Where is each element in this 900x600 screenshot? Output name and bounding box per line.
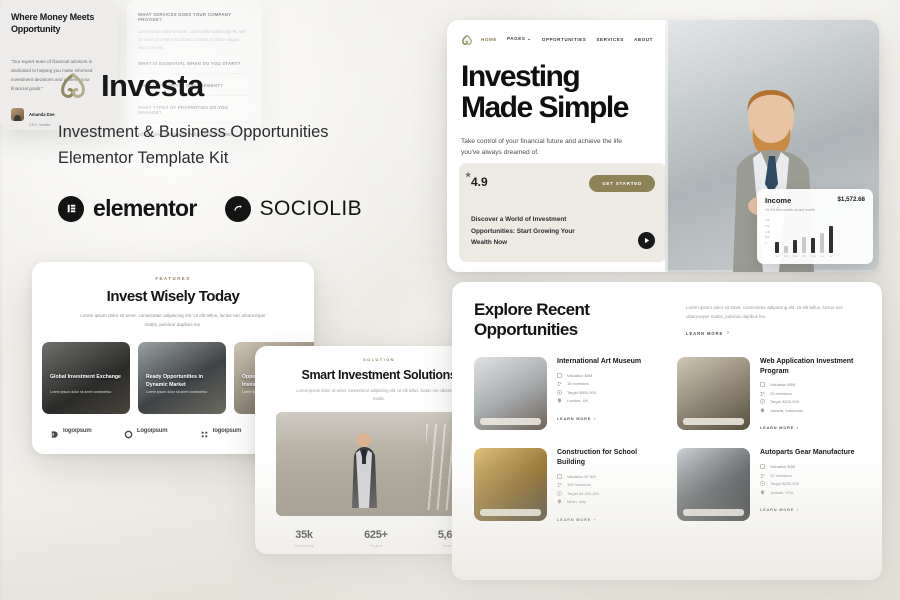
income-chart-y-axis: 2.0k 1.5k 1.0k 500 0 (765, 219, 770, 245)
brand-subtitle-line1: Investment & Business Opportunities (58, 120, 458, 146)
meta-target-text: Target $250,000 (770, 481, 799, 486)
meta-valuation-text: Valuation $5M (770, 382, 795, 387)
opportunity-card-title: Construction for School Building (557, 448, 659, 468)
site-nav: HOME PAGES ⌄ OPPORTUNITIES SERVICES ABOU… (461, 33, 653, 45)
page-title: Investa (101, 68, 204, 104)
hero-rating-card: ★ 4.9 GET STARTED Discover a World of In… (459, 163, 667, 262)
meta-row: Valuation $7.5M (557, 474, 659, 479)
meta-row: Valuation $5M (557, 373, 659, 378)
valuation-icon (760, 464, 765, 469)
opportunity-card-image (474, 448, 547, 521)
meta-target-text: Target $1,500,000 (567, 491, 599, 496)
investa-leaf-logo-icon (461, 33, 473, 45)
meta-row: Target $500,000 (557, 390, 659, 395)
income-widget-value: $1,572.68 (837, 196, 865, 203)
opportunity-card[interactable]: Web Application Investment ProgramValuat… (677, 357, 862, 435)
badge-sociolib-label: SOCIOLIB (260, 197, 362, 221)
client-logo-label: logoipsum (63, 428, 92, 434)
feature-card[interactable]: Ready Opportunities in Dynamic Market Lo… (138, 342, 226, 414)
chevron-right-icon: › (797, 425, 799, 430)
faq-lead-answer: Lorem ipsum dolor sit amet, consectetur … (138, 28, 251, 52)
brand-subtitle-line2: Elementor Template Kit (58, 146, 458, 172)
meta-row: Milan, Italy (557, 499, 659, 504)
income-x-label: Jan (775, 255, 779, 258)
stat-label: Community (294, 544, 314, 548)
y-tick: 1.0k (765, 231, 770, 234)
smart-paragraph: Lorem ipsum dolor sit amet, consectetur … (291, 387, 467, 403)
income-bar (820, 233, 824, 253)
income-bar-chart: 2.0k 1.5k 1.0k 500 0 (765, 219, 865, 253)
opportunities-heading-line1: Explore Recent (474, 300, 589, 320)
opportunity-card-grid: International Art MuseumValuation $5M15 … (474, 357, 862, 526)
faq-item-label: WHAT IS ESSENTIAL WHEN DO YOU START? (138, 61, 241, 66)
nav-item-home[interactable]: HOME (481, 37, 497, 42)
meta-location-text: Jakarta, Indonesia (770, 408, 803, 413)
smart-person-photo (338, 430, 390, 508)
meta-row: 32 Investors (760, 473, 862, 478)
hero-headline-line2: Made Simple (461, 93, 653, 124)
opportunity-learn-more-label: LEARN MORE (557, 517, 591, 522)
income-x-label: Jun (820, 255, 824, 258)
location-icon (760, 490, 765, 495)
elementor-logo-icon (58, 196, 84, 222)
target-icon (760, 399, 765, 404)
brand-title-row: Investa (58, 68, 458, 104)
feature-card[interactable]: Global Investment Exchange Lorem ipsum d… (42, 342, 130, 414)
income-bar (802, 237, 806, 253)
opportunities-heading-line2: Opportunities (474, 320, 589, 340)
opportunity-card[interactable]: International Art MuseumValuation $5M15 … (474, 357, 659, 435)
hero-image: Income +5.3% this month vs last month $1… (665, 20, 879, 272)
faq-item[interactable]: WHAT IS ESSENTIAL WHEN DO YOU START? (138, 52, 251, 66)
opportunities-panel: Explore Recent Opportunities Lorem ipsum… (452, 282, 882, 580)
opportunity-card[interactable]: Construction for School BuildingValuatio… (474, 448, 659, 526)
client-logo: logoipsum (200, 426, 242, 435)
opportunity-learn-more-label: LEARN MORE (557, 416, 591, 421)
image-caption-tag (480, 418, 541, 425)
meta-row: Valuation $4M (760, 464, 862, 469)
opportunity-card-body: Web Application Investment ProgramValuat… (760, 357, 862, 435)
investors-icon (760, 391, 765, 396)
opportunity-card-title: Web Application Investment Program (760, 357, 862, 377)
author-name: Amanda Doe (29, 112, 55, 117)
opportunity-card-image (677, 448, 750, 521)
stat-item: 625+ Project (364, 529, 388, 548)
learn-more-label: LEARN MORE (686, 331, 723, 336)
valuation-icon (557, 373, 562, 378)
meta-row: London, UK (557, 398, 659, 403)
logoipsum-circle-icon (124, 426, 133, 435)
income-widget: Income +5.3% this month vs last month $1… (757, 189, 873, 264)
badge-sociolib: SOCIOLIB (225, 196, 362, 222)
logoipsum-dots-icon (200, 426, 209, 435)
money-heading: Where Money Meets Opportunity (11, 12, 107, 36)
meta-row: 25 Investors (760, 391, 862, 396)
meta-row: 150 Investors (557, 482, 659, 487)
opportunity-learn-more-label: LEARN MORE (760, 507, 794, 512)
meta-row: 15 Investors (557, 381, 659, 386)
get-started-button[interactable]: GET STARTED (589, 175, 655, 192)
chevron-right-icon: › (797, 507, 799, 512)
hero-headline: Investing Made Simple (461, 62, 653, 124)
meta-investors-text: 150 Investors (567, 482, 591, 487)
hero-headline-line1: Investing (461, 62, 653, 93)
y-tick: 1.5k (765, 225, 770, 228)
screenshot-canvas: Investa Investment & Business Opportunit… (0, 0, 900, 600)
investors-icon (557, 381, 562, 386)
meta-target-text: Target $500,000 (567, 390, 596, 395)
stat-label: Project (364, 544, 388, 548)
image-caption-tag (683, 418, 744, 425)
star-icon: ★ (465, 171, 471, 179)
income-chart-x-axis: JanFebMarAprMayJunJul (765, 255, 865, 258)
badge-elementor-label: elementor (93, 195, 197, 222)
y-tick: 0 (765, 242, 770, 245)
stat-value: 625+ (364, 529, 388, 541)
income-x-label: Apr (802, 255, 806, 258)
opportunity-card-image (677, 357, 750, 430)
chevron-right-icon: › (594, 416, 596, 421)
opportunity-learn-more-link[interactable]: LEARN MORE› (760, 425, 799, 430)
features-heading: Invest Wisely Today (32, 288, 314, 305)
feature-card-title: Global Investment Exchange (50, 374, 122, 382)
income-bar (793, 240, 797, 253)
stat-item: 35k Community (294, 529, 314, 548)
logoipsum-bracket-icon (50, 426, 59, 435)
faq-lead-question[interactable]: WHAT SERVICES DOES YOUR COMPANY PROVIDE? (138, 12, 251, 22)
hero-panel: HOME PAGES ⌄ OPPORTUNITIES SERVICES ABOU… (447, 20, 879, 272)
meta-location-text: Milan, Italy (567, 499, 586, 504)
meta-valuation-text: Valuation $4M (770, 464, 795, 469)
meta-row: Valuation $5M (760, 382, 862, 387)
income-x-label: Feb (784, 255, 788, 258)
opportunity-card-image (474, 357, 547, 430)
meta-investors-text: 15 Investors (567, 381, 589, 386)
y-tick: 500 (765, 236, 770, 239)
image-caption-tag (480, 509, 541, 516)
opportunity-card-meta: Valuation $5M25 InvestorsTarget $200,000… (760, 382, 862, 413)
opportunity-learn-more-link[interactable]: LEARN MORE› (557, 416, 596, 421)
features-paragraph: Lorem ipsum dolor sit amet, consectetur … (73, 312, 273, 329)
investors-icon (557, 482, 562, 487)
income-bar (829, 226, 833, 253)
income-x-label: Mar (793, 255, 797, 258)
location-icon (557, 398, 562, 403)
sociolib-arrow-icon (225, 196, 251, 222)
meta-valuation-text: Valuation $7.5M (567, 474, 596, 479)
meta-investors-text: 25 Investors (770, 391, 792, 396)
investors-icon (760, 473, 765, 478)
feature-card-subtitle: Lorem ipsum dolor sit amet consectetur. (50, 390, 122, 396)
meta-location-text: London, UK (567, 398, 588, 403)
location-icon (557, 499, 562, 504)
nav-item-services[interactable]: SERVICES (596, 37, 624, 42)
income-bar (784, 246, 788, 253)
income-bar (775, 242, 779, 253)
feature-card-title: Ready Opportunities in Dynamic Market (146, 374, 218, 389)
opportunity-card-title: Autoparts Gear Manufacture (760, 448, 862, 458)
client-logo-label: Logoipsum (137, 428, 168, 434)
image-caption-tag (683, 509, 744, 516)
rating-value-wrap: ★ 4.9 (471, 175, 488, 189)
opportunity-card[interactable]: Autoparts Gear ManufactureValuation $4M3… (677, 448, 862, 526)
opportunity-card-title: International Art Museum (557, 357, 659, 367)
target-icon (557, 390, 562, 395)
meta-row: Jeddah, KSA (760, 490, 862, 495)
play-icon[interactable] (638, 232, 655, 249)
target-icon (557, 491, 562, 496)
valuation-icon (760, 382, 765, 387)
nav-item-about[interactable]: ABOUT (634, 37, 653, 42)
opportunities-paragraph: Lorem ipsum dolor sit amet, consectetur … (686, 304, 862, 321)
hero-promo-text: Discover a World of Investment Opportuni… (471, 214, 591, 249)
meta-row: Target $250,000 (760, 481, 862, 486)
opportunity-card-meta: Valuation $4M32 InvestorsTarget $250,000… (760, 464, 862, 495)
opportunity-learn-more-label: LEARN MORE (760, 425, 794, 430)
client-logo: Logoipsum (124, 426, 168, 435)
income-widget-subtitle: +5.3% this month vs last month (765, 208, 815, 213)
meta-row: Jakarta, Indonesia (760, 408, 862, 413)
learn-more-link[interactable]: LEARN MORE › (686, 330, 730, 336)
rating-value: 4.9 (471, 175, 488, 189)
y-tick: 2.0k (765, 219, 770, 222)
brand-block: Investa Investment & Business Opportunit… (58, 68, 458, 222)
income-bar (811, 238, 815, 253)
opportunity-learn-more-link[interactable]: LEARN MORE› (557, 517, 596, 522)
target-icon (760, 481, 765, 486)
author-role: CEO, Investa (29, 123, 55, 127)
chevron-right-icon: › (594, 517, 596, 522)
opportunity-card-meta: Valuation $5M15 InvestorsTarget $500,000… (557, 373, 659, 404)
nav-list: HOME PAGES ⌄ OPPORTUNITIES SERVICES ABOU… (481, 36, 653, 42)
hero-paragraph: Take control of your financial future an… (461, 136, 641, 159)
hero-left-column: HOME PAGES ⌄ OPPORTUNITIES SERVICES ABOU… (447, 20, 665, 272)
avatar (11, 108, 24, 121)
brand-badges: elementor SOCIOLIB (58, 195, 458, 222)
meta-target-text: Target $200,000 (770, 399, 799, 404)
income-x-label: Jul (829, 255, 833, 258)
client-logo: logoipsum (50, 426, 92, 435)
valuation-icon (557, 474, 562, 479)
stat-value: 35k (294, 529, 314, 541)
client-logo-label: logoipsum (213, 428, 242, 434)
income-x-label: May (811, 255, 815, 258)
features-eyebrow: FEATURES (32, 276, 314, 281)
meta-location-text: Jeddah, KSA (770, 490, 793, 495)
badge-elementor: elementor (58, 195, 197, 222)
nav-item-pages[interactable]: PAGES ⌄ (507, 36, 532, 42)
feature-card-subtitle: Lorem ipsum dolor sit amet consectetur. (146, 390, 218, 396)
meta-investors-text: 32 Investors (770, 473, 792, 478)
brand-subtitle: Investment & Business Opportunities Elem… (58, 120, 458, 171)
meta-valuation-text: Valuation $5M (567, 373, 592, 378)
opportunities-heading: Explore Recent Opportunities (474, 300, 589, 341)
opportunity-card-body: International Art MuseumValuation $5M15 … (557, 357, 659, 435)
opportunity-card-meta: Valuation $7.5M150 InvestorsTarget $1,50… (557, 474, 659, 505)
location-icon (760, 408, 765, 413)
opportunity-learn-more-link[interactable]: LEARN MORE› (760, 507, 799, 512)
chevron-right-icon: › (727, 330, 730, 336)
opportunity-card-body: Autoparts Gear ManufactureValuation $4M3… (760, 448, 862, 526)
nav-item-opportunities[interactable]: OPPORTUNITIES (542, 37, 587, 42)
investa-leaf-logo-icon (58, 71, 88, 101)
opportunity-card-body: Construction for School BuildingValuatio… (557, 448, 659, 526)
income-widget-title: Income (765, 196, 815, 205)
meta-row: Target $1,500,000 (557, 491, 659, 496)
meta-row: Target $200,000 (760, 399, 862, 404)
